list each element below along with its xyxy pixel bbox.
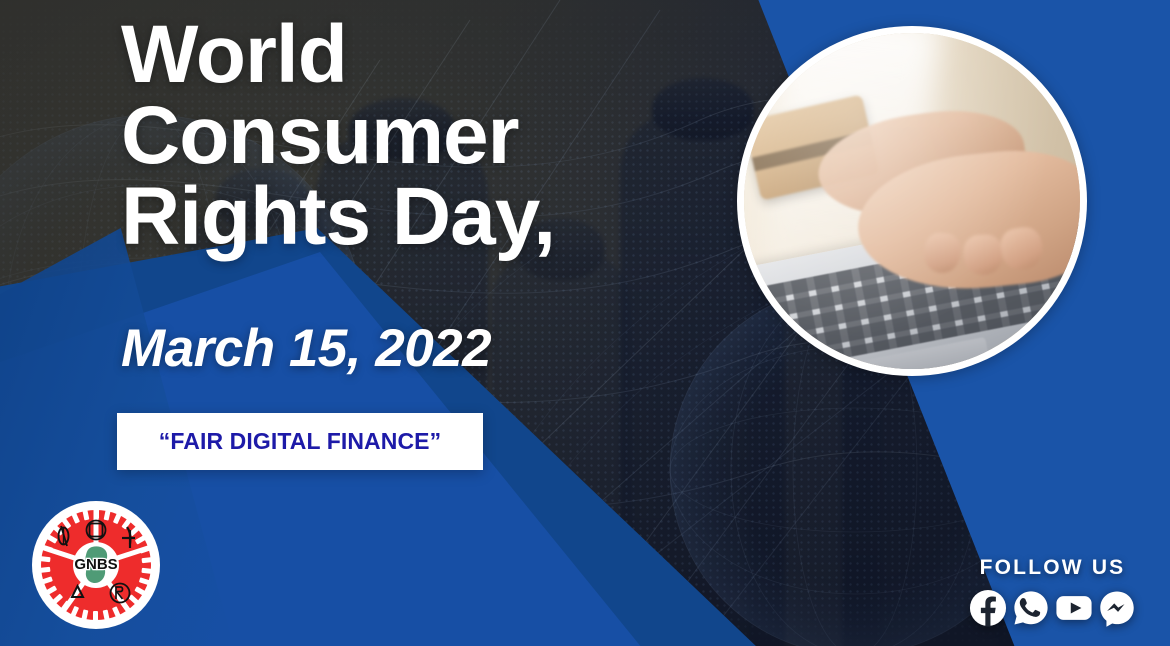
- headline-line-1: World: [121, 14, 741, 95]
- theme-banner: “FAIR DIGITAL FINANCE”: [117, 413, 483, 470]
- gnbs-logo: GNBS: [31, 500, 161, 630]
- headline-line-2: Consumer: [121, 95, 741, 176]
- headline-line-3: Rights Day,: [121, 176, 741, 257]
- theme-banner-text: “FAIR DIGITAL FINANCE”: [159, 428, 441, 455]
- facebook-icon[interactable]: [969, 589, 1007, 627]
- social-links-row: [955, 589, 1150, 627]
- messenger-icon[interactable]: [1098, 589, 1136, 627]
- whatsapp-icon[interactable]: [1012, 589, 1050, 627]
- youtube-icon[interactable]: [1055, 589, 1093, 627]
- follow-us-block: FOLLOW US: [955, 556, 1150, 627]
- svg-text:GNBS: GNBS: [74, 556, 117, 573]
- follow-us-label: FOLLOW US: [955, 556, 1150, 580]
- feature-photo: [744, 33, 1080, 369]
- poster-canvas: World Consumer Rights Day, March 15, 202…: [0, 0, 1170, 646]
- feature-photo-ring: [737, 26, 1087, 376]
- page-title: World Consumer Rights Day,: [121, 14, 741, 258]
- event-date: March 15, 2022: [121, 318, 491, 379]
